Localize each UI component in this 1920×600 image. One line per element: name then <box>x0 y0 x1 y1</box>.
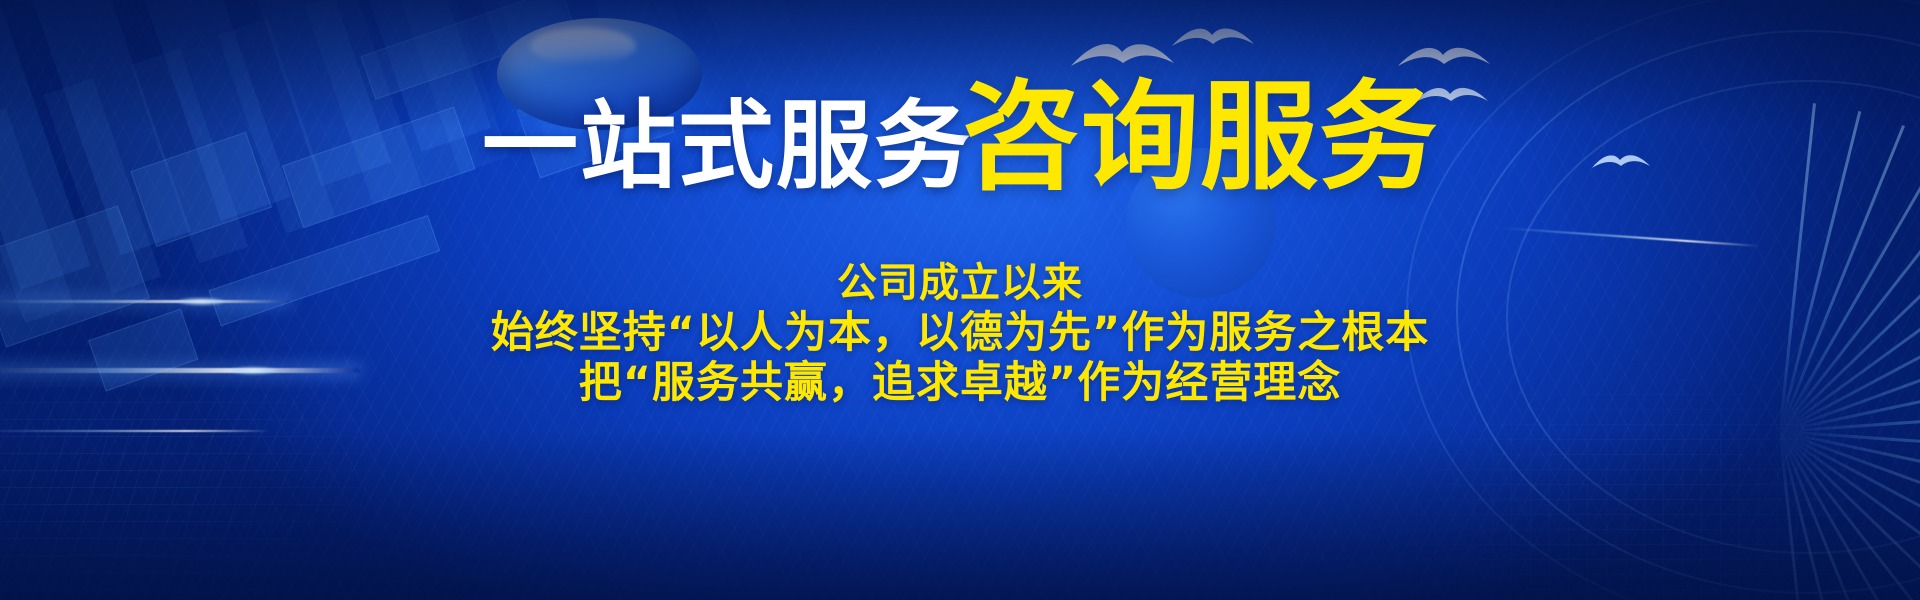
vignette <box>0 0 1920 600</box>
promotional-banner: 一站式服务 咨询服务 公司成立以来 始终坚持“以人为本，以德为先”作为服务之根本… <box>0 0 1920 600</box>
